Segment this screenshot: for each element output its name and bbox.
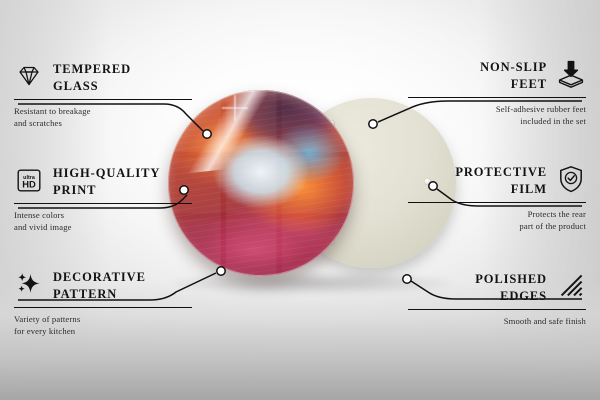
feature-title-line2: GLASS	[53, 78, 131, 95]
feature-title-line2: EDGES	[475, 288, 547, 305]
feature-divider	[408, 309, 586, 310]
feature-tempered-glass: TEMPERED GLASS Resistant to breakage and…	[14, 60, 192, 129]
feature-desc-line1: Self-adhesive rubber feet	[408, 103, 586, 115]
feature-protective-film: PROTECTIVE FILM Protects the rear part o…	[408, 163, 586, 232]
feature-title-line1: HIGH-QUALITY	[53, 165, 160, 182]
feature-desc-line2: included in the set	[408, 115, 586, 127]
feature-title: NON-SLIP FEET	[480, 58, 547, 92]
feature-description: Resistant to breakage and scratches	[14, 105, 192, 129]
feature-desc-line2: for every kitchen	[14, 325, 192, 337]
feature-decorative-pattern: DECORATIVE PATTERN Variety of patterns f…	[14, 268, 192, 337]
feature-description: Intense colors and vivid image	[14, 209, 192, 233]
feature-title-line1: TEMPERED	[53, 61, 131, 78]
feature-title-line2: FILM	[455, 181, 547, 198]
feature-polished-edges: POLISHED EDGES Smooth and safe finish	[408, 270, 586, 327]
feature-divider	[14, 203, 192, 204]
feature-header: NON-SLIP FEET	[408, 58, 586, 92]
feature-title: DECORATIVE PATTERN	[53, 268, 146, 302]
diamond-icon	[14, 61, 44, 91]
feature-title: HIGH-QUALITY PRINT	[53, 164, 160, 198]
feature-desc-line2: part of the product	[408, 220, 586, 232]
infographic-canvas: TEMPERED GLASS Resistant to breakage and…	[0, 0, 600, 400]
feature-title-line2: PATTERN	[53, 286, 146, 303]
feature-desc-line1: Variety of patterns	[14, 313, 192, 325]
feature-description: Variety of patterns for every kitchen	[14, 313, 192, 337]
feature-title-line1: DECORATIVE	[53, 269, 146, 286]
feature-title-line1: POLISHED	[475, 271, 547, 288]
feature-non-slip-feet: NON-SLIP FEET Self-adhesive rubber feet …	[408, 58, 586, 127]
svg-text:HD: HD	[22, 178, 36, 189]
connector-dot-tempered-glass	[203, 130, 211, 138]
feature-header: TEMPERED GLASS	[14, 60, 192, 94]
feature-description: Self-adhesive rubber feet included in th…	[408, 103, 586, 127]
feature-header: PROTECTIVE FILM	[408, 163, 586, 197]
feature-title-line2: FEET	[480, 76, 547, 93]
sparkle-icon	[14, 269, 44, 299]
ultra-hd-badge-icon: ultra HD	[14, 165, 44, 195]
diagonal-lines-icon	[556, 271, 586, 301]
feature-title-line2: PRINT	[53, 182, 160, 199]
shield-check-icon	[556, 164, 586, 194]
feature-desc-line2: and scratches	[14, 117, 192, 129]
feature-title: POLISHED EDGES	[475, 270, 547, 304]
feature-desc-line1: Resistant to breakage	[14, 105, 192, 117]
feature-divider	[408, 97, 586, 98]
feature-title: PROTECTIVE FILM	[455, 163, 547, 197]
connector-dot-decorative-pattern	[217, 267, 225, 275]
feature-divider	[14, 99, 192, 100]
feature-divider	[408, 202, 586, 203]
feature-title-line1: NON-SLIP	[480, 59, 547, 76]
feature-header: POLISHED EDGES	[408, 270, 586, 304]
feature-title: TEMPERED GLASS	[53, 60, 131, 94]
feature-desc-line1: Smooth and safe finish	[408, 315, 586, 327]
feature-header: ultra HD HIGH-QUALITY PRINT	[14, 164, 192, 198]
feature-divider	[14, 307, 192, 308]
feature-desc-line1: Intense colors	[14, 209, 192, 221]
feature-header: DECORATIVE PATTERN	[14, 268, 192, 302]
feature-desc-line2: and vivid image	[14, 221, 192, 233]
feature-description: Protects the rear part of the product	[408, 208, 586, 232]
feature-high-quality-print: ultra HD HIGH-QUALITY PRINT Intense colo…	[14, 164, 192, 233]
connector-dot-non-slip-feet	[369, 120, 377, 128]
feature-description: Smooth and safe finish	[408, 315, 586, 327]
feature-title-line1: PROTECTIVE	[455, 164, 547, 181]
arrow-down-pad-icon	[556, 59, 586, 89]
feature-desc-line1: Protects the rear	[408, 208, 586, 220]
